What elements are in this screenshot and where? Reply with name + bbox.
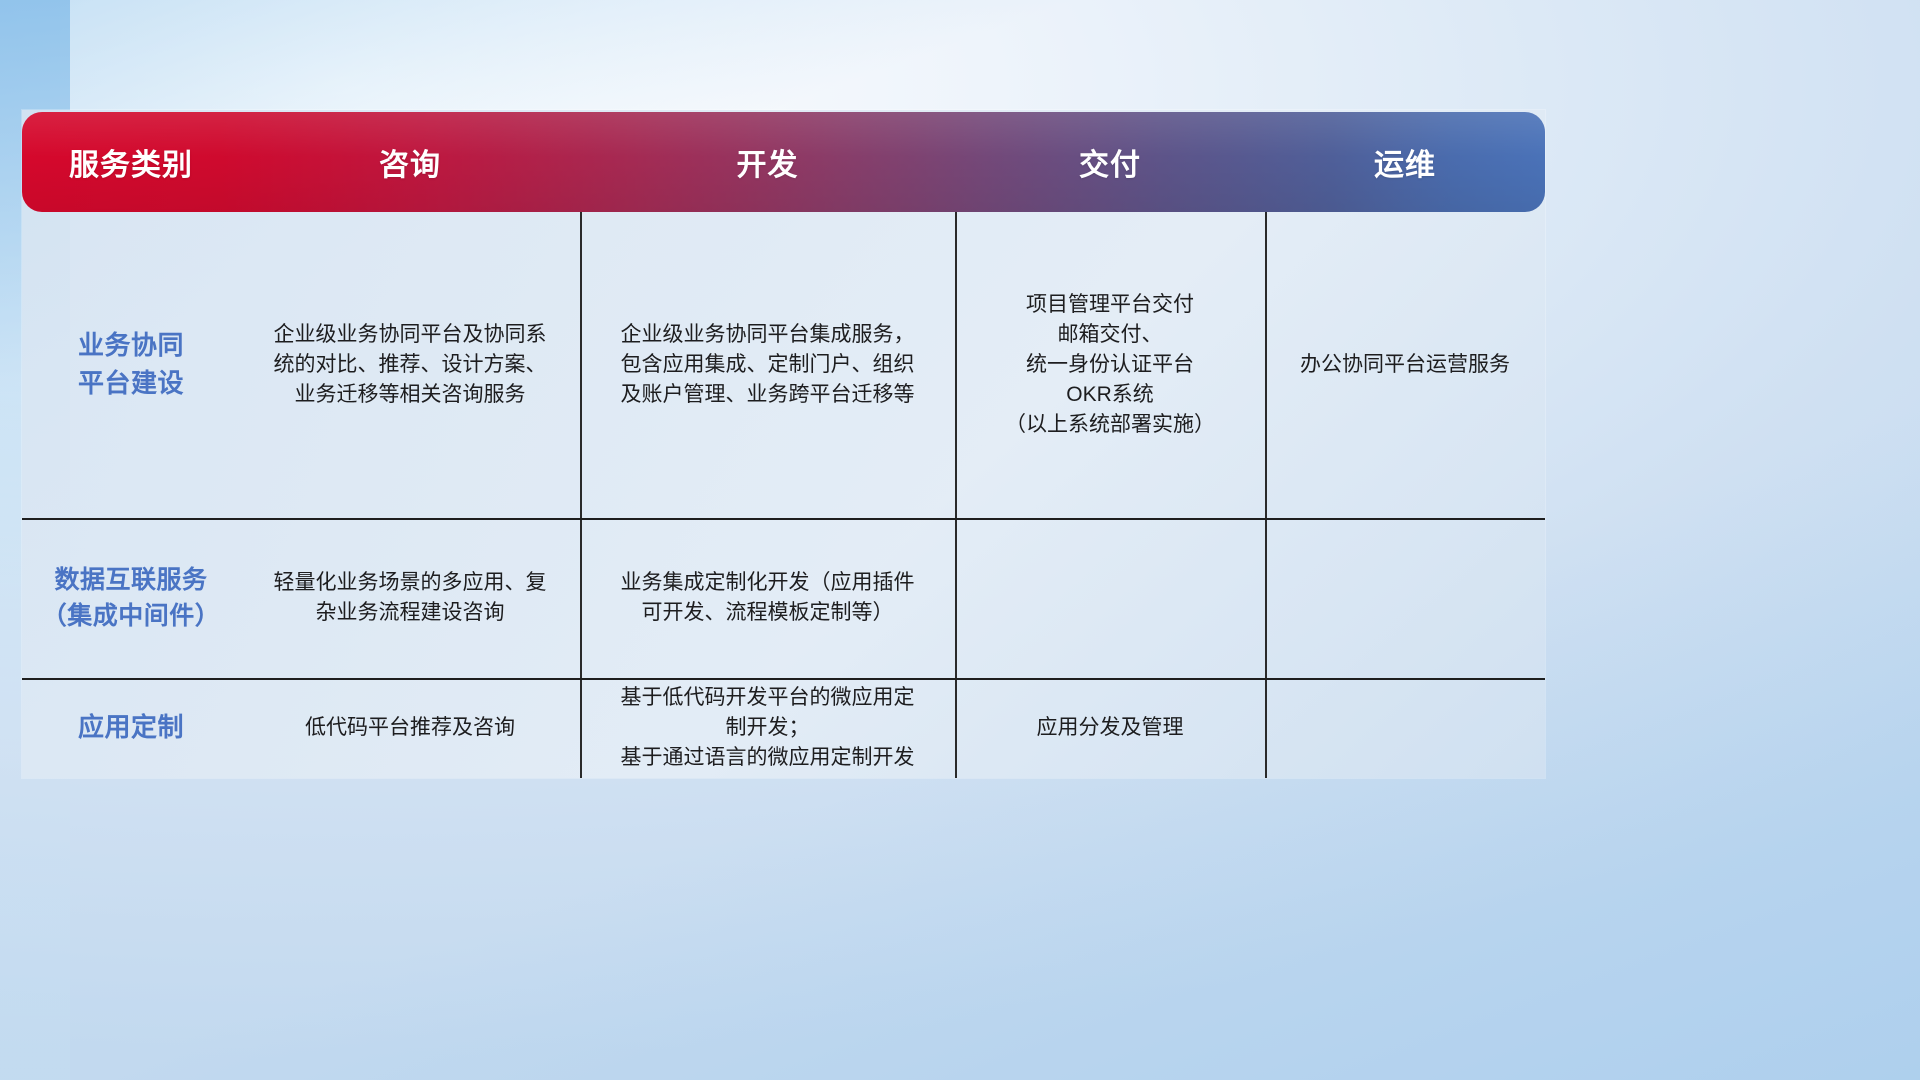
text-line: 项目管理平台交付 (1005, 290, 1215, 320)
header-delivery[interactable]: 交付 (955, 112, 1265, 212)
text-line: 统一身份认证平台 (1005, 350, 1215, 380)
text-line: 应用定制 (78, 709, 184, 747)
text-line: OKR系统 (1005, 380, 1215, 410)
grid-vertical-line (1265, 212, 1267, 778)
text-line: 统的对比、推荐、设计方案、 (274, 350, 547, 380)
table-header-row: 服务类别咨询开发交付运维 (22, 112, 1545, 212)
header-label: 开发 (737, 140, 799, 184)
cell-service-category: 数据互联服务（集成中间件） (22, 518, 240, 678)
cell-text: 轻量化业务场景的多应用、复杂业务流程建设咨询 (274, 568, 547, 628)
cell-operations: 办公协同平台运营服务 (1265, 212, 1545, 518)
grid-horizontal-line (22, 678, 1545, 680)
cell-delivery (955, 518, 1265, 678)
table-row: 业务协同平台建设企业级业务协同平台及协同系统的对比、推荐、设计方案、业务迁移等相… (22, 212, 1545, 518)
cell-service-category: 应用定制 (22, 678, 240, 778)
cell-development: 基于低代码开发平台的微应用定制开发；基于通过语言的微应用定制开发 (580, 678, 955, 778)
text-line: 及账户管理、业务跨平台迁移等 (621, 380, 915, 410)
cell-text: 企业级业务协同平台集成服务，包含应用集成、定制门户、组织及账户管理、业务跨平台迁… (621, 320, 915, 409)
table-row: 应用定制低代码平台推荐及咨询基于低代码开发平台的微应用定制开发；基于通过语言的微… (22, 678, 1545, 778)
cell-text: 企业级业务协同平台及协同系统的对比、推荐、设计方案、业务迁移等相关咨询服务 (274, 320, 547, 409)
table-row: 数据互联服务（集成中间件）轻量化业务场景的多应用、复杂业务流程建设咨询业务集成定… (22, 518, 1545, 678)
cell-text: 基于低代码开发平台的微应用定制开发；基于通过语言的微应用定制开发 (621, 683, 915, 772)
cell-operations (1265, 678, 1545, 778)
grid-horizontal-line (22, 518, 1545, 520)
text-line: 办公协同平台运营服务 (1300, 350, 1510, 380)
cell-service-category: 业务协同平台建设 (22, 212, 240, 518)
text-line: 应用分发及管理 (1037, 713, 1184, 743)
cell-development: 企业级业务协同平台集成服务，包含应用集成、定制门户、组织及账户管理、业务跨平台迁… (580, 212, 955, 518)
text-line: 杂业务流程建设咨询 (274, 598, 547, 628)
cell-development: 业务集成定制化开发（应用插件可开发、流程模板定制等） (580, 518, 955, 678)
text-line: 可开发、流程模板定制等） (621, 598, 915, 628)
header-label: 服务类别 (69, 140, 193, 184)
header-consulting[interactable]: 咨询 (240, 112, 580, 212)
header-label: 咨询 (379, 140, 441, 184)
text-line: （以上系统部署实施） (1005, 410, 1215, 440)
text-line: （集成中间件） (42, 598, 221, 634)
text-line: 业务迁移等相关咨询服务 (274, 380, 547, 410)
text-line: 数据互联服务 (42, 562, 221, 598)
cell-text: 应用分发及管理 (1037, 713, 1184, 743)
text-line: 企业级业务协同平台集成服务， (621, 320, 915, 350)
grid-vertical-line (955, 212, 957, 778)
text-line: 业务集成定制化开发（应用插件 (621, 568, 915, 598)
text-line: 平台建设 (78, 365, 184, 403)
cell-operations (1265, 518, 1545, 678)
text-line: 业务协同 (78, 327, 184, 365)
text-line: 低代码平台推荐及咨询 (305, 713, 515, 743)
text-line: 包含应用集成、定制门户、组织 (621, 350, 915, 380)
header-development[interactable]: 开发 (580, 112, 955, 212)
cell-text: 项目管理平台交付邮箱交付、统一身份认证平台OKR系统（以上系统部署实施） (1005, 290, 1215, 439)
text-line: 轻量化业务场景的多应用、复 (274, 568, 547, 598)
header-label: 交付 (1079, 140, 1141, 184)
cell-text: 业务集成定制化开发（应用插件可开发、流程模板定制等） (621, 568, 915, 628)
cell-text: 业务协同平台建设 (78, 327, 184, 402)
text-line: 基于低代码开发平台的微应用定 (621, 683, 915, 713)
cell-delivery: 应用分发及管理 (955, 678, 1265, 778)
cell-text: 数据互联服务（集成中间件） (42, 562, 221, 635)
text-line: 制开发； (621, 713, 915, 743)
header-operations[interactable]: 运维 (1265, 112, 1545, 212)
header-service-category[interactable]: 服务类别 (22, 112, 240, 212)
cell-consulting: 轻量化业务场景的多应用、复杂业务流程建设咨询 (240, 518, 580, 678)
cell-delivery: 项目管理平台交付邮箱交付、统一身份认证平台OKR系统（以上系统部署实施） (955, 212, 1265, 518)
cell-text: 低代码平台推荐及咨询 (305, 713, 515, 743)
header-label: 运维 (1374, 140, 1436, 184)
cell-consulting: 低代码平台推荐及咨询 (240, 678, 580, 778)
cell-text: 办公协同平台运营服务 (1300, 350, 1510, 380)
grid-vertical-line (580, 212, 582, 778)
text-line: 企业级业务协同平台及协同系 (274, 320, 547, 350)
text-line: 邮箱交付、 (1005, 320, 1215, 350)
cell-text: 应用定制 (78, 709, 184, 747)
cell-consulting: 企业级业务协同平台及协同系统的对比、推荐、设计方案、业务迁移等相关咨询服务 (240, 212, 580, 518)
text-line: 基于通过语言的微应用定制开发 (621, 743, 915, 773)
table-body: 业务协同平台建设企业级业务协同平台及协同系统的对比、推荐、设计方案、业务迁移等相… (22, 212, 1545, 778)
